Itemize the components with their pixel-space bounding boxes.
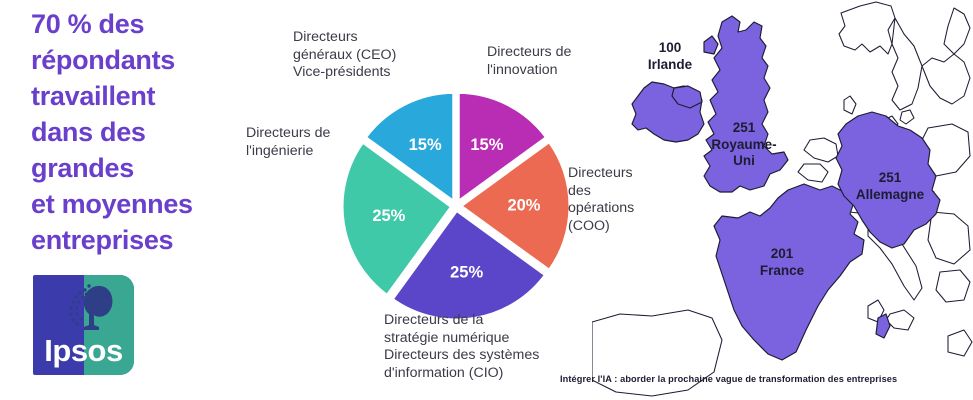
pie-slice-value: 25% [372,207,405,225]
map-label-allemagne: Allemagne [856,187,925,202]
headline-line-7: entreprises [31,222,293,258]
pie-label-ceo-line-2: généraux (CEO) [293,47,443,65]
headline-line-3: travaillent [31,78,293,114]
pie-chart: 15%20%25%25%15% [330,80,582,332]
pie-slice-value: 20% [507,196,540,214]
headline-line-1: 70 % des [31,6,293,42]
pie-label-cio-line-4: d'information (CIO) [384,365,584,383]
logo-shield: Ipsos [33,275,134,375]
pie-label-engineering-line-1: Directeurs de [246,125,366,143]
pie-slice-value: 15% [470,136,503,154]
europe-map: 100Irlande251Royaume-Uni251Allemagne201F… [592,0,973,400]
map-country-royaume-uni-north [704,36,718,54]
pie-label-ceo-line-1: Directeurs [293,29,443,47]
pie-label-ceo-line-3: Vice-présidents [293,64,443,82]
pie-label-cio: Directeurs de la stratégie numérique Dir… [384,312,584,382]
headline-line-6: et moyennes [31,186,293,222]
pie-slice-value: 25% [450,264,483,282]
pie-label-cio-line-3: Directeurs des systèmes [384,347,584,365]
map-value-france: 201 [771,246,794,261]
map-label-irlande: Irlande [648,57,693,72]
pie-chart-svg: 15%20%25%25%15% [330,80,582,332]
pie-label-engineering: Directeurs de l'ingénierie [246,125,366,160]
europe-map-svg: 100Irlande251Royaume-Uni251Allemagne201F… [592,0,973,400]
map-value-irlande: 100 [659,40,682,55]
map-label-royaume-uni: Uni [733,153,755,168]
pie-label-cio-line-2: stratégie numérique [384,330,584,348]
left-panel: 70 % des répondants travaillent dans des… [0,0,300,400]
map-label-royaume-uni: Royaume- [711,137,776,152]
pie-label-engineering-line-2: l'ingénierie [246,143,366,161]
pie-label-ceo: Directeurs généraux (CEO) Vice-président… [293,29,443,82]
map-label-france: France [760,263,805,278]
infographic-root: 70 % des répondants travaillent dans des… [0,0,973,400]
ipsos-logo: Ipsos [33,275,134,375]
map-value-allemagne: 251 [879,170,902,185]
map-value-royaume-uni: 251 [733,120,756,135]
pie-label-cio-line-1: Directeurs de la [384,312,584,330]
headline-line-2: répondants [31,42,293,78]
pie-slice-value: 15% [409,136,442,154]
footer-note: Intégrer l'IA : aborder la prochaine vag… [560,374,897,384]
logo-wordmark: Ipsos [33,335,134,366]
